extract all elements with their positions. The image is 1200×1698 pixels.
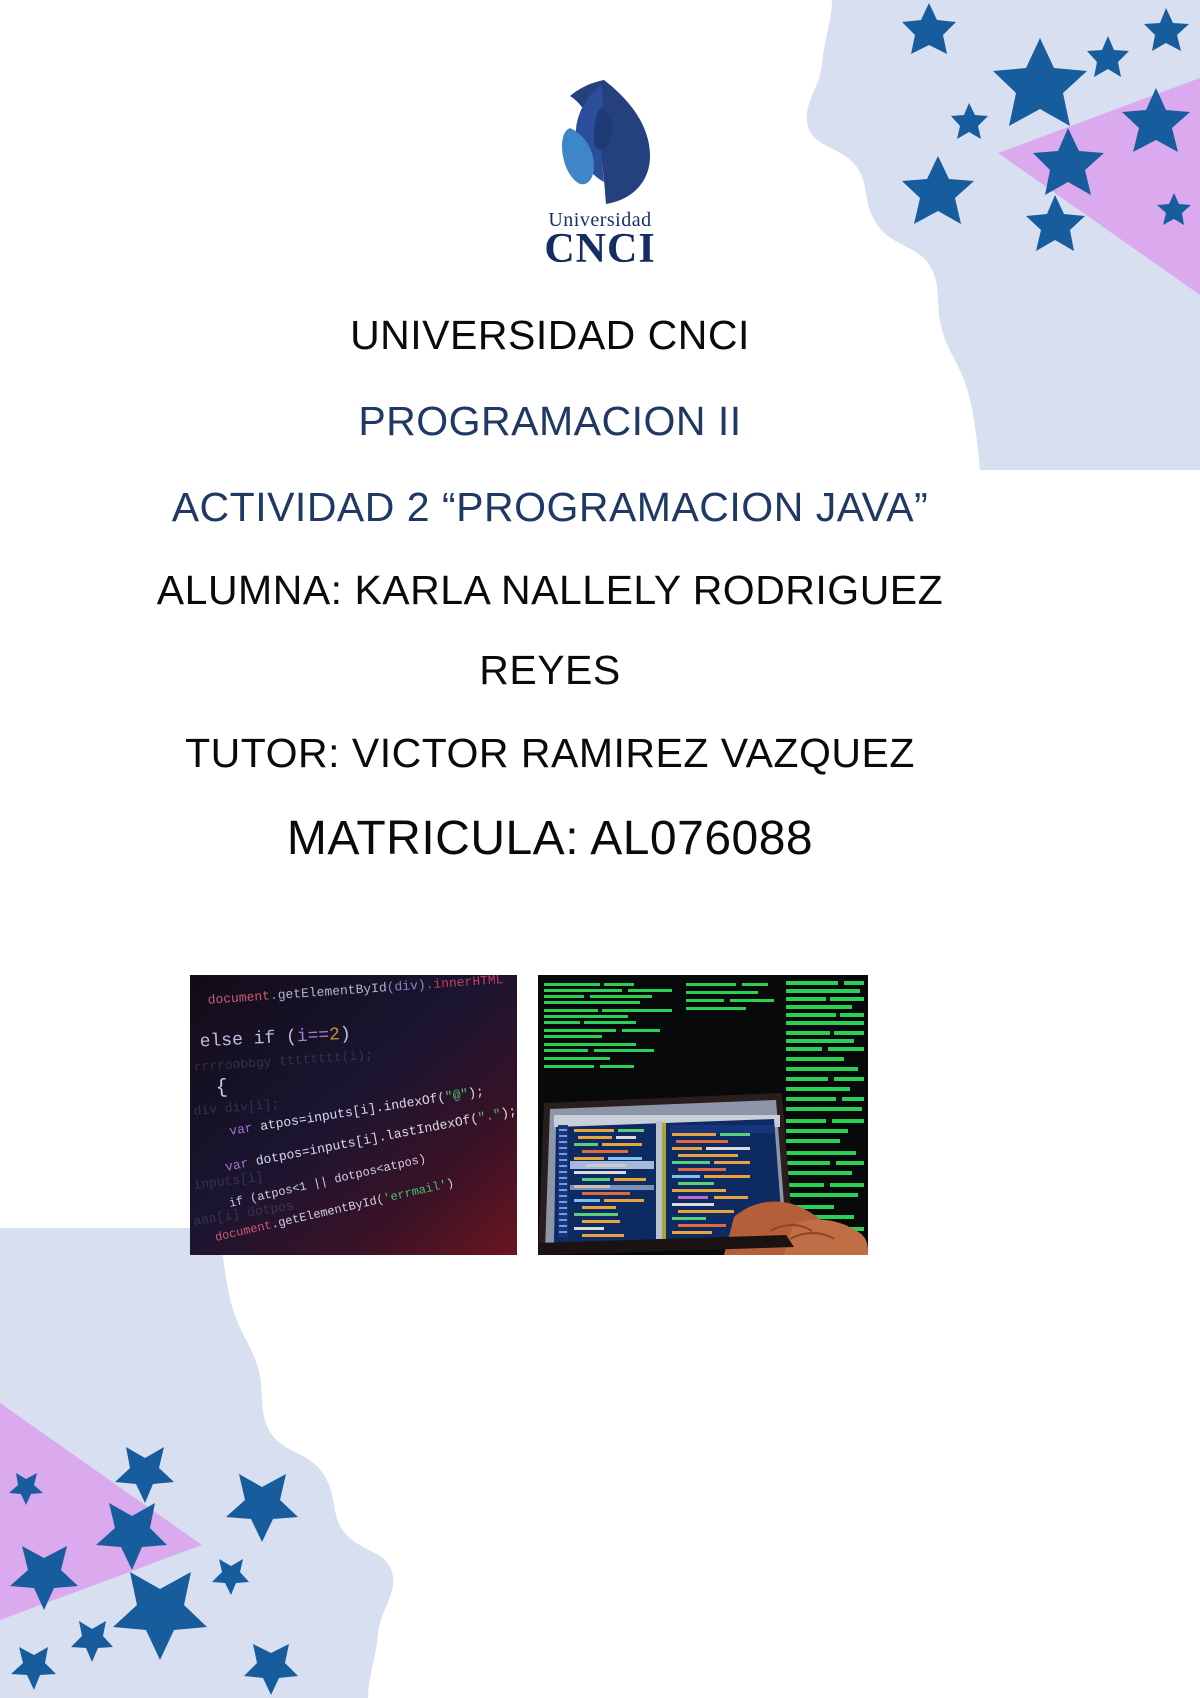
triangle-purple — [0, 1403, 202, 1620]
star-icon — [212, 1559, 249, 1595]
decoration-bottom-left — [0, 1228, 520, 1698]
svg-text:{: { — [215, 1076, 228, 1100]
star-icon — [115, 1447, 174, 1503]
cnci-flame-icon — [540, 78, 660, 208]
universidad-cnci-logo: Universidad CNCI — [532, 78, 668, 270]
title-line-alumna-cont: REYES — [120, 630, 980, 710]
star-icon — [71, 1621, 113, 1662]
title-line-alumna: ALUMNA: KARLA NALLELY RODRIGUEZ — [120, 550, 980, 630]
stars-group — [9, 1447, 298, 1695]
title-line-actividad: ACTIVIDAD 2 “PROGRAMACION JAVA” — [120, 464, 980, 550]
star-icon — [113, 1572, 207, 1660]
logo-word-cnci: CNCI — [544, 228, 655, 270]
title-block: UNIVERSIDAD CNCI PROGRAMACION II ACTIVID… — [120, 292, 980, 882]
star-icon — [96, 1503, 167, 1570]
star-icon — [244, 1644, 298, 1695]
blob-light-blue — [0, 1228, 393, 1698]
title-line-matricula: MATRICULA: AL076088 — [120, 796, 980, 882]
star-icon — [9, 1473, 43, 1505]
logo-container: Universidad CNCI — [0, 78, 1200, 270]
star-icon — [1087, 36, 1129, 77]
laptop-terminal-photo — [538, 975, 868, 1255]
cover-page: Universidad CNCI UNIVERSIDAD CNCI PROGRA… — [0, 0, 1200, 1698]
star-icon — [1144, 8, 1189, 51]
photo-row: document.getElementById(div).innerHTML e… — [190, 975, 870, 1255]
title-line-universidad: UNIVERSIDAD CNCI — [120, 292, 980, 378]
star-icon — [226, 1474, 298, 1542]
star-icon — [11, 1647, 56, 1690]
javascript-code-photo: document.getElementById(div).innerHTML e… — [190, 975, 517, 1255]
star-icon — [10, 1546, 78, 1610]
star-icon — [902, 3, 956, 54]
title-line-materia: PROGRAMACION II — [120, 378, 980, 464]
title-line-tutor: TUTOR: VICTOR RAMIREZ VAZQUEZ — [120, 710, 980, 796]
